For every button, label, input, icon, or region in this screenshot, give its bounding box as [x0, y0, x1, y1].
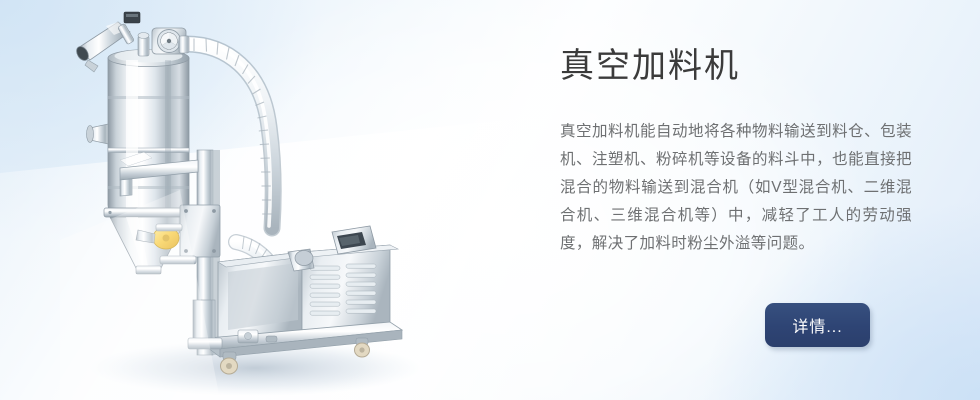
- vacuum-pump-head: [124, 12, 186, 54]
- product-description: 真空加料机能自动地将各种物料输送到料仓、包装机、注塑机、粉碎机等设备的料斗中，也…: [560, 88, 912, 258]
- product-image: [60, 0, 460, 400]
- suction-hose-upper: [179, 36, 273, 228]
- banner-text-block: 真空加料机 真空加料机能自动地将各种物料输送到料仓、包装机、注塑机、粉碎机等设备…: [560, 44, 920, 258]
- product-banner: 真空加料机 真空加料机能自动地将各种物料输送到料仓、包装机、注塑机、粉碎机等设备…: [0, 0, 980, 400]
- page-title: 真空加料机: [560, 44, 920, 88]
- details-button[interactable]: 详情...: [765, 303, 870, 347]
- cta-container: 详情...: [765, 303, 870, 347]
